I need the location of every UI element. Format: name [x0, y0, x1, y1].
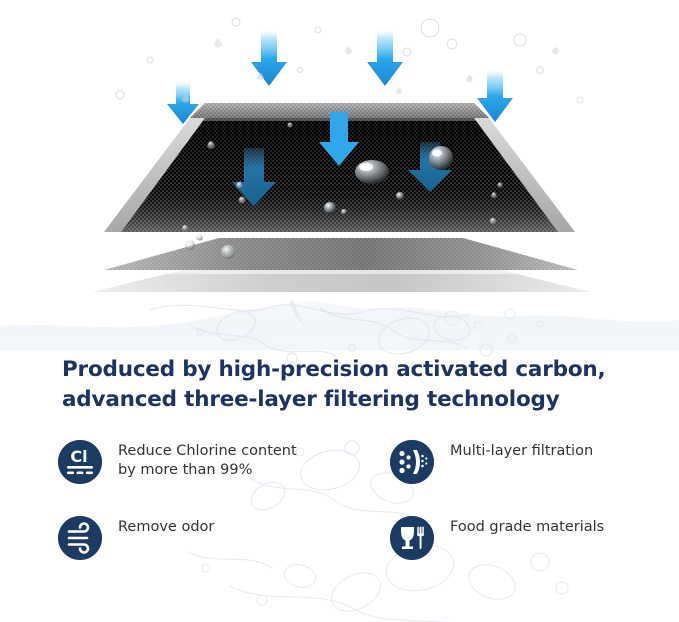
water-droplet [355, 160, 389, 184]
water-droplet [429, 146, 453, 170]
headline-line-2: advanced three-layer filtering technolog… [62, 385, 642, 415]
water-droplet [490, 218, 496, 224]
feature-item-reduce-chlorine[interactable]: Cl Reduce Chlorine content by more than … [58, 438, 390, 482]
feature-label-line: Reduce Chlorine content [118, 442, 297, 461]
remove-odor-airflow-icon [58, 516, 102, 560]
water-droplet [185, 240, 195, 250]
water-droplet [239, 197, 246, 204]
water-droplet [396, 192, 404, 200]
filter-layer-2-middle [104, 238, 578, 274]
feature-label-line: by more than 99% [118, 461, 297, 480]
feature-label: Multi-layer filtration [450, 438, 593, 461]
filter-layers-illustration [0, 0, 679, 320]
feature-label: Reduce Chlorine content by more than 99% [118, 438, 297, 480]
multi-layer-filtration-icon [390, 440, 434, 484]
chlorine-cl-icon: Cl [58, 440, 102, 484]
water-droplet [341, 209, 347, 215]
feature-label-line: Multi-layer filtration [450, 442, 593, 461]
inflow-arrow-2 [251, 28, 287, 86]
feature-label-line: Remove odor [118, 518, 214, 537]
feature-label: Remove odor [118, 514, 214, 537]
feature-label-line: Food grade materials [450, 518, 604, 537]
water-droplet [497, 182, 502, 187]
feature-row-1: Cl Reduce Chlorine content by more than … [58, 438, 658, 482]
filter-diagram-svg [0, 0, 679, 320]
feature-label: Food grade materials [450, 514, 604, 537]
feature-row-2: Remove odor [58, 514, 658, 558]
inflow-arrow-4 [367, 28, 403, 86]
feature-item-multi-layer-filtration[interactable]: Multi-layer filtration [390, 438, 658, 482]
feature-list: Cl Reduce Chlorine content by more than … [58, 438, 658, 590]
water-droplet [182, 225, 188, 231]
svg-text:Cl: Cl [70, 447, 87, 466]
headline-line-1: Produced by high-precision activated car… [62, 357, 605, 382]
feature-item-remove-odor[interactable]: Remove odor [58, 514, 390, 558]
water-droplet [287, 122, 292, 127]
page-headline: Produced by high-precision activated car… [62, 355, 642, 415]
product-feature-page: Produced by high-precision activated car… [0, 0, 679, 622]
water-droplet [324, 202, 336, 214]
water-droplet [221, 245, 235, 259]
feature-item-food-grade-materials[interactable]: Food grade materials [390, 514, 658, 558]
food-grade-glass-fork-icon [390, 516, 434, 560]
